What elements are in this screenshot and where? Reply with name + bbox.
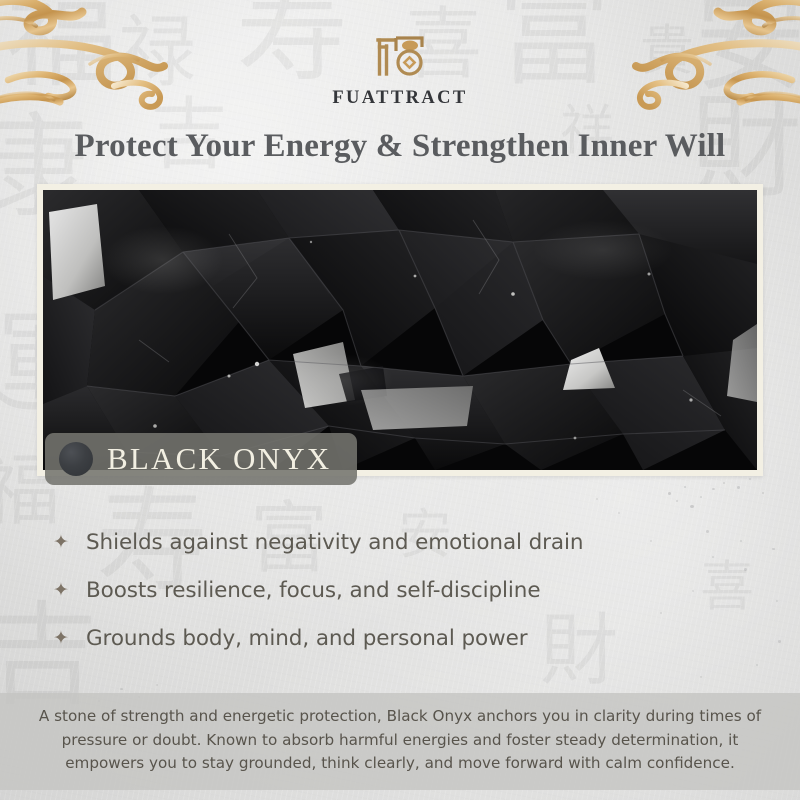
benefit-text: Boosts resilience, focus, and self-disci… <box>86 578 540 603</box>
list-item: ✦ Grounds body, mind, and personal power <box>52 614 752 662</box>
list-item: ✦ Boosts resilience, focus, and self-dis… <box>52 566 752 614</box>
sparkle-diamond-icon: ✦ <box>52 581 70 600</box>
brand-name: FUATTRACT <box>0 88 800 109</box>
stone-name-badge: BLACK ONYX <box>45 433 357 485</box>
page-title: Protect Your Energy & Strengthen Inner W… <box>0 128 800 165</box>
list-item: ✦ Shields against negativity and emotion… <box>52 518 752 566</box>
benefit-text: Shields against negativity and emotional… <box>86 530 583 555</box>
stone-name-label: BLACK ONYX <box>107 441 331 477</box>
description-band: A stone of strength and energetic protec… <box>0 693 800 790</box>
brand-header: FUATTRACT <box>0 30 800 109</box>
benefits-list: ✦ Shields against negativity and emotion… <box>52 518 752 662</box>
stone-color-swatch-icon <box>59 442 93 476</box>
description-text: A stone of strength and energetic protec… <box>26 705 774 776</box>
sparkle-diamond-icon: ✦ <box>52 629 70 648</box>
black-onyx-crystal-photo <box>43 190 757 470</box>
poster-canvas: 福 禄 寿 喜 富 貴 安 康 吉 祥 財 運 福 寿 富 安 吉 財 喜 <box>0 0 800 800</box>
sparkle-diamond-icon: ✦ <box>52 533 70 552</box>
fuattract-seal-logo-icon <box>0 30 800 85</box>
benefit-text: Grounds body, mind, and personal power <box>86 626 527 651</box>
